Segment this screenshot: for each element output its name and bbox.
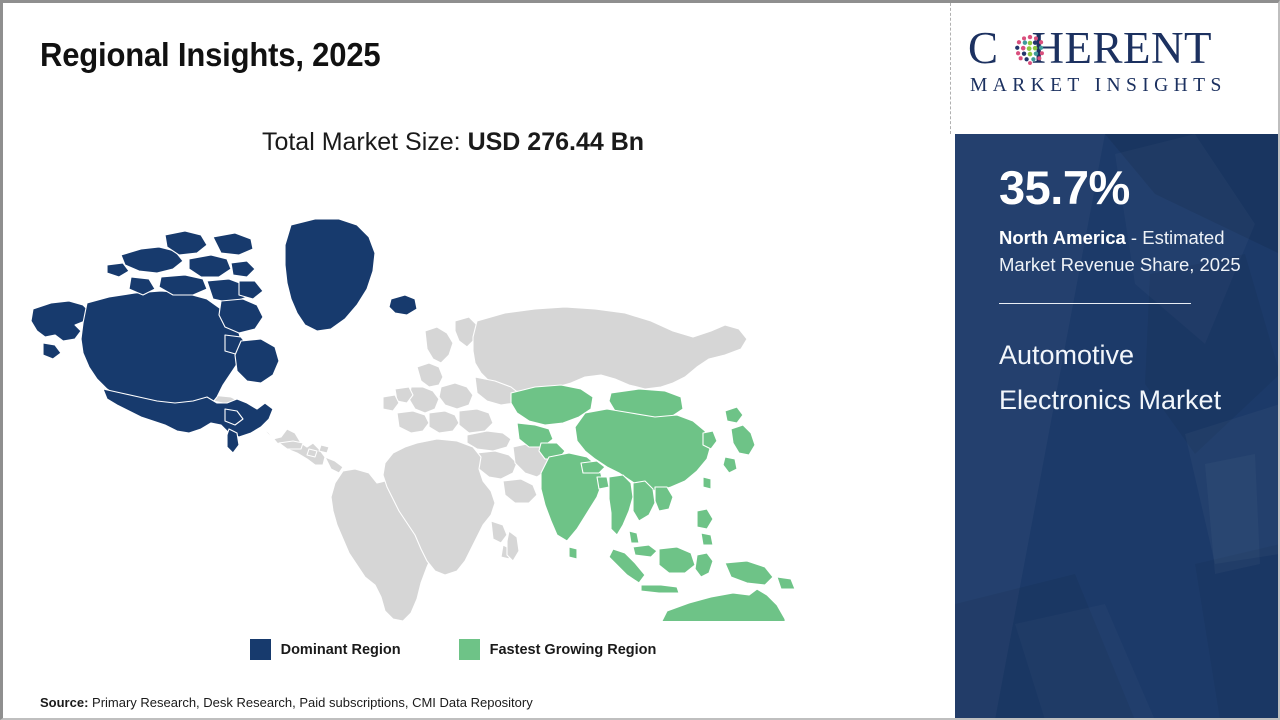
brand-logo: COHERENT [968, 21, 1268, 113]
stat-region: North America [999, 227, 1126, 248]
logo-wordmark: COHERENT [968, 21, 1212, 75]
left-content: Regional Insights, 2025 Total Market Siz… [3, 3, 950, 720]
map-legend: Dominant Region Fastest Growing Region [3, 639, 903, 660]
world-map-svg [25, 181, 865, 621]
panel-divider-rule [999, 303, 1191, 305]
source-text: Primary Research, Desk Research, Paid su… [88, 695, 532, 710]
globe-dots-icon [1013, 32, 1047, 66]
world-map [25, 181, 865, 621]
fastest-growing-landmass [511, 385, 839, 621]
dominant-region-landmass [31, 219, 417, 453]
stat-description: North America - Estimated Market Revenue… [999, 225, 1261, 279]
highlight-panel: 35.7% North America - Estimated Market R… [955, 134, 1280, 720]
stat-value: 35.7% [999, 164, 1280, 211]
legend-label-growing: Fastest Growing Region [490, 642, 657, 658]
legend-item-fastest-growing-region: Fastest Growing Region [459, 639, 657, 660]
total-market-size: Total Market Size: USD 276.44 Bn [3, 128, 903, 157]
legend-label-dominant: Dominant Region [281, 642, 401, 658]
legend-swatch-dominant [250, 639, 271, 660]
source-label: Source: [40, 695, 88, 710]
logo-tagline: MARKET INSIGHTS [970, 75, 1227, 97]
legend-swatch-growing [459, 639, 480, 660]
vertical-divider [950, 3, 951, 134]
page-title: Regional Insights, 2025 [40, 36, 380, 74]
market-name: Automotive Electronics Market [999, 333, 1249, 424]
market-size-label: Total Market Size: [262, 128, 468, 156]
market-size-value: USD 276.44 Bn [468, 128, 644, 156]
legend-item-dominant-region: Dominant Region [250, 639, 401, 660]
infographic-card: Regional Insights, 2025 Total Market Siz… [0, 0, 1280, 720]
source-note: Source: Primary Research, Desk Research,… [40, 695, 533, 710]
